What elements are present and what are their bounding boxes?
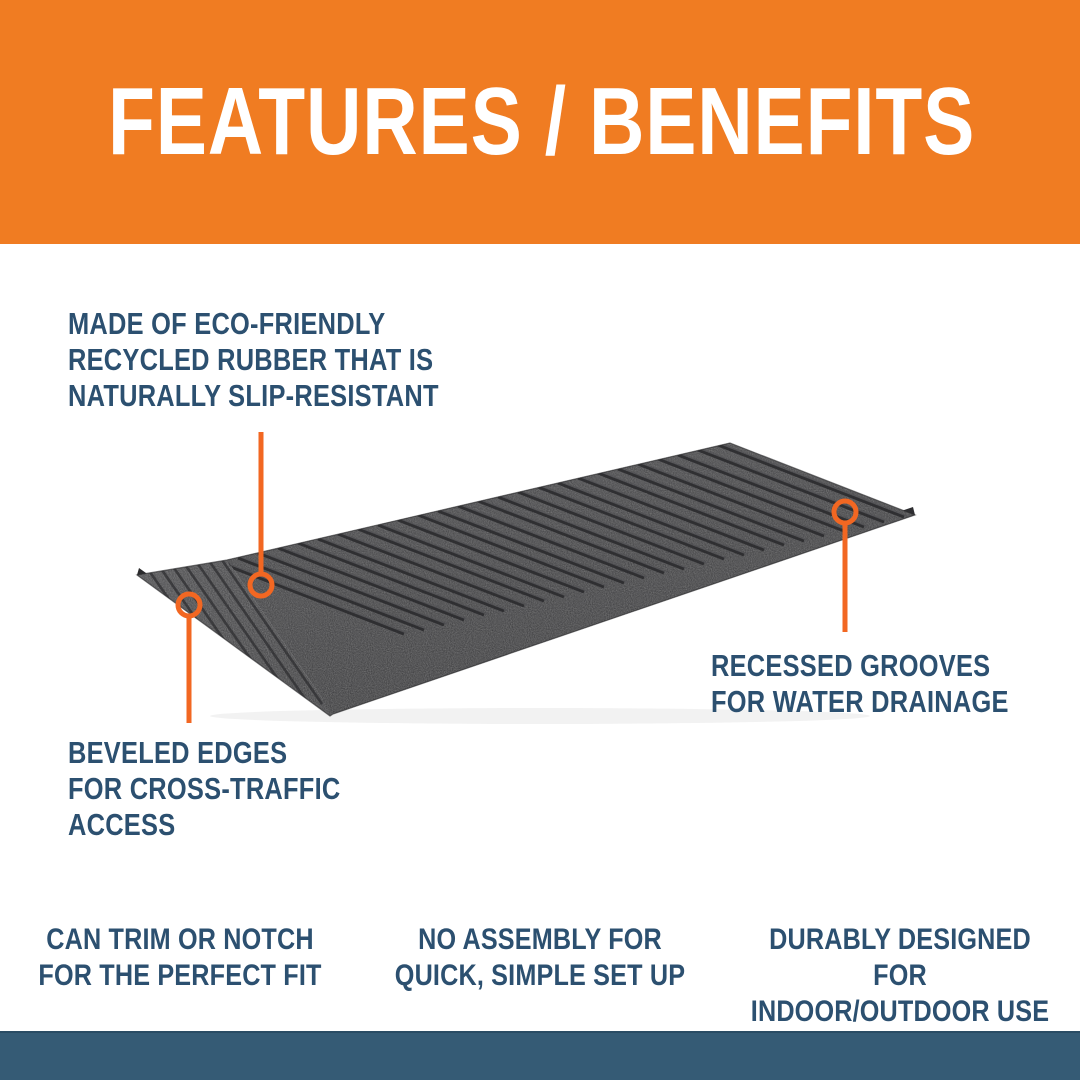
product-ramp-illustration: [0, 0, 1080, 1080]
bottom-caption-indoor-outdoor: DURABLY DESIGNED FOR INDOOR/OUTDOOR USE: [749, 922, 1051, 1030]
footer-band: [0, 1031, 1080, 1080]
bottom-caption-trim-or-notch: CAN TRIM OR NOTCH FOR THE PERFECT FIT: [29, 922, 331, 1030]
feature-benefits-infographic: FEATURES / BENEFITS: [0, 0, 1080, 1080]
bottom-caption-row: CAN TRIM OR NOTCH FOR THE PERFECT FIT NO…: [0, 922, 1080, 1030]
callout-label-recessed-grooves: RECESSED GROOVES FOR WATER DRAINAGE: [711, 648, 1009, 720]
callout-label-beveled-edges: BEVELED EDGES FOR CROSS-TRAFFIC ACCESS: [68, 735, 340, 843]
bottom-caption-no-assembly: NO ASSEMBLY FOR QUICK, SIMPLE SET UP: [389, 922, 691, 1030]
callout-label-eco-friendly: MADE OF ECO-FRIENDLY RECYCLED RUBBER THA…: [68, 306, 439, 414]
